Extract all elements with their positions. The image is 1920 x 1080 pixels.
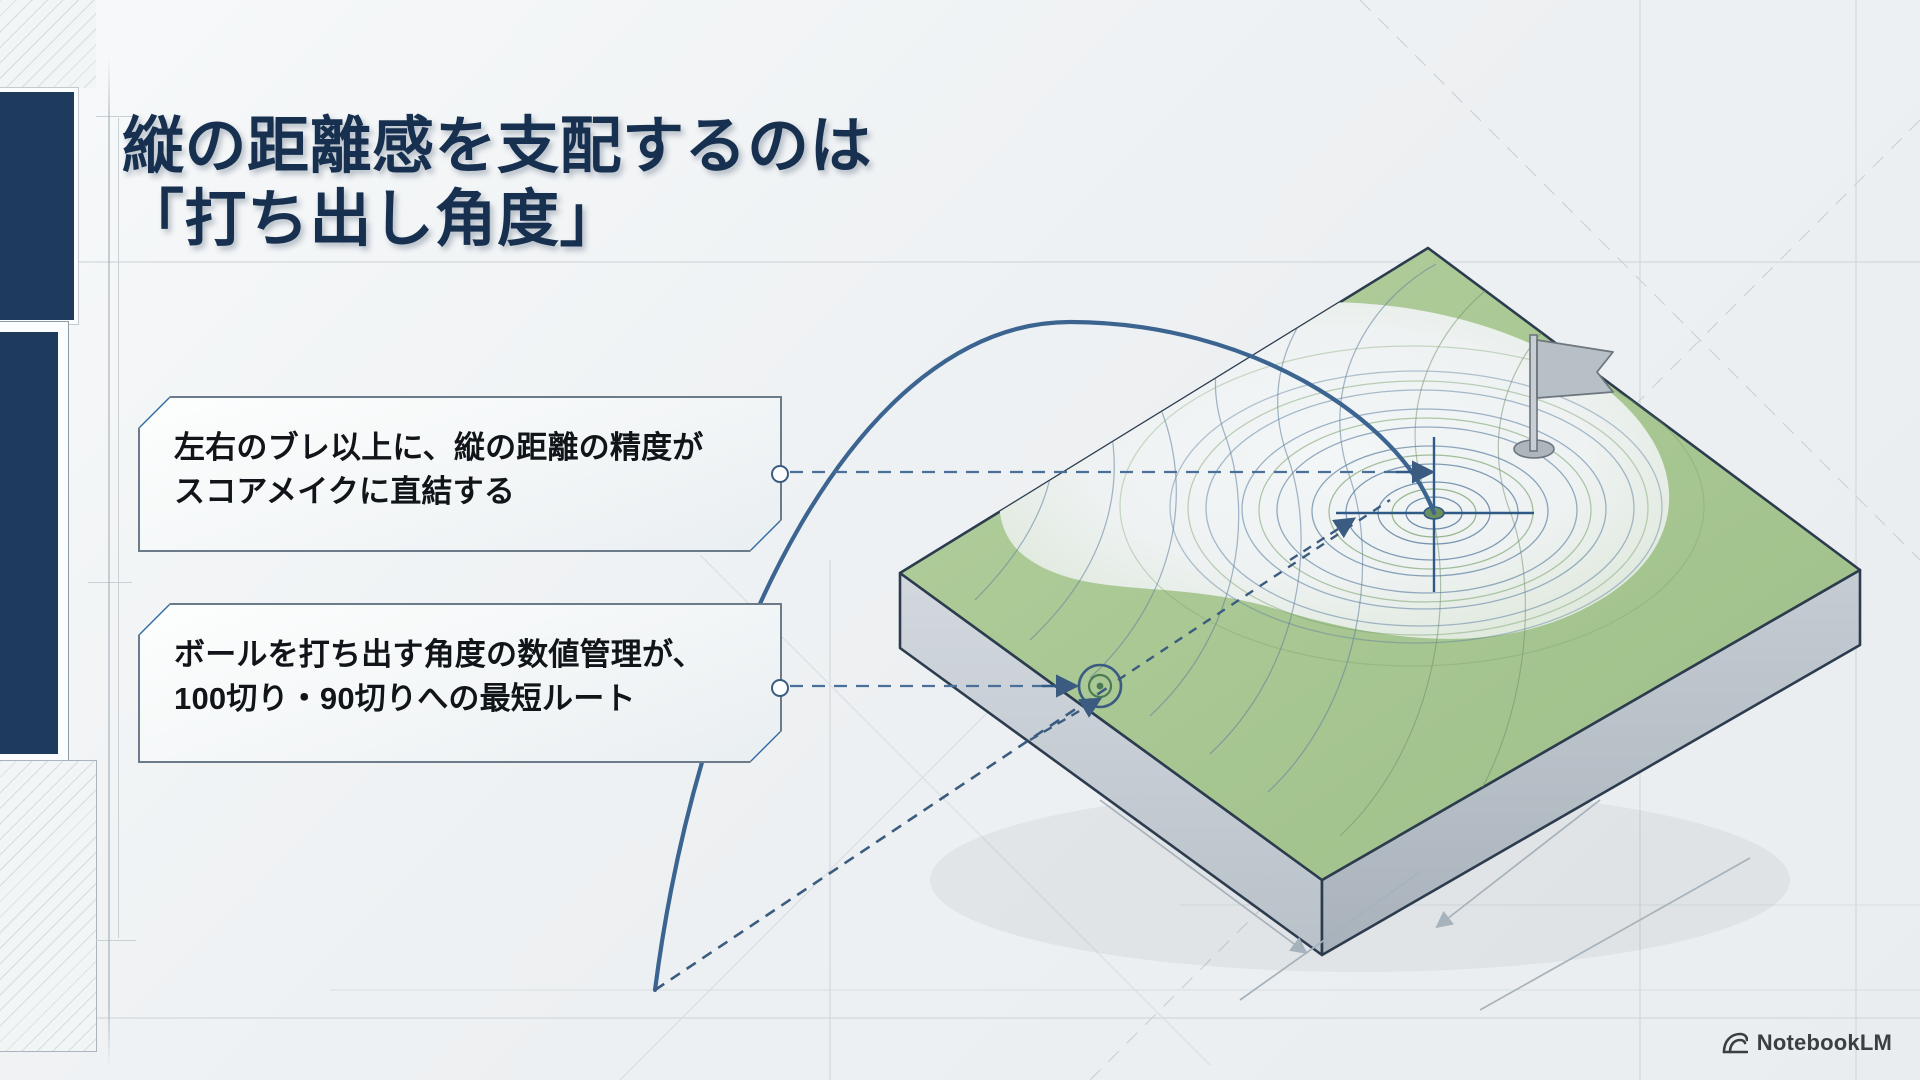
notebooklm-watermark: NotebookLM (1722, 1030, 1892, 1056)
callout-1-text: 左右のブレ以上に、縦の距離の精度が スコアメイクに直結する (174, 426, 749, 514)
callout-box-2[interactable]: ボールを打ち出す角度の数値管理が、 100切り・90切りへの最短ルート (138, 603, 782, 763)
flag-cloth (1537, 340, 1613, 398)
notebooklm-spiral-icon (1722, 1032, 1748, 1054)
callout-1-connector-dot (771, 465, 789, 483)
watermark-label: NotebookLM (1757, 1030, 1892, 1056)
callout-2-line-1: ボールを打ち出す角度の数値管理が、 (174, 633, 749, 677)
callout-2-line-2: 100切り・90切りへの最短ルート (174, 677, 749, 721)
callout-1-line-1: 左右のブレ以上に、縦の距離の精度が (174, 426, 749, 470)
callout-box-1[interactable]: 左右のブレ以上に、縦の距離の精度が スコアメイクに直結する (138, 396, 782, 552)
callout-1-line-2: スコアメイクに直結する (174, 470, 749, 514)
callout-2-text: ボールを打ち出す角度の数値管理が、 100切り・90切りへの最短ルート (174, 633, 749, 721)
callout-2-connector-dot (771, 679, 789, 697)
slide-canvas: 縦の距離感を支配するのは 「打ち出し角度」 (0, 0, 1920, 1080)
